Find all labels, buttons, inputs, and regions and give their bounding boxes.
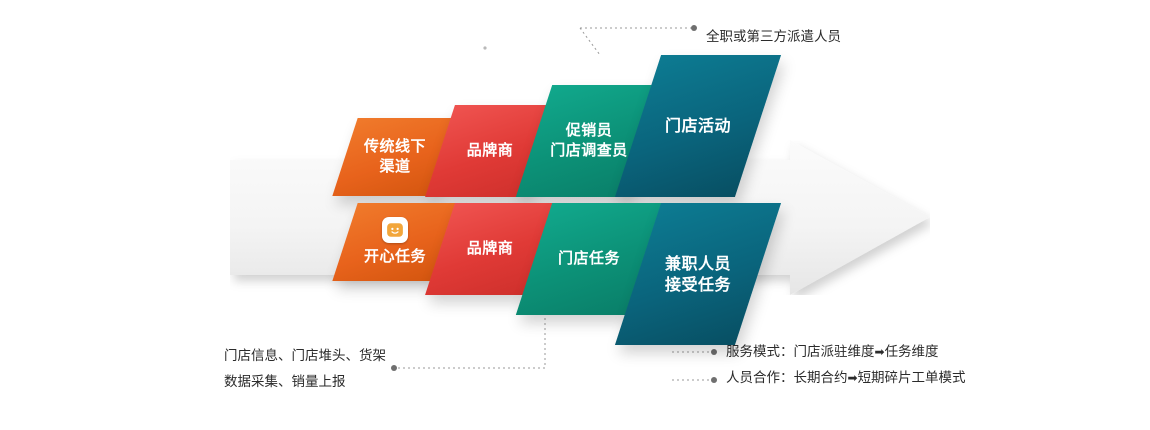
annotation-to: 任务维度 [885, 344, 939, 360]
annotation-from: 门店派驻维度 [794, 344, 875, 360]
block-label-line-2: 接受任务 [665, 274, 731, 295]
block-parttime-accept-task[interactable]: 兼职人员 接受任务 [615, 203, 781, 345]
block-label-line-1: 品牌商 [467, 239, 514, 259]
annotation-from: 长期合约 [794, 370, 848, 386]
annotation-label: 人员合作： [726, 370, 794, 386]
annotation-service-model: 服务模式：门店派驻维度➡任务维度 人员合作：长期合约➡短期碎片工单模式 [726, 340, 966, 391]
block-label-line-1: 兼职人员 [665, 253, 731, 274]
block-label-line-2: 门店调查员 [550, 141, 628, 161]
annotation-data-collection: 门店信息、门店堆头、货架 数据采集、销量上报 [224, 344, 386, 395]
diagram-canvas: 传统线下 渠道 品牌商 促销员 门店调查员 门店活动 [0, 0, 1150, 430]
block-store-activity[interactable]: 门店活动 [615, 55, 781, 197]
block-label-line-1: 门店任务 [558, 249, 620, 269]
annotation-label: 服务模式： [726, 344, 794, 360]
annotation-to: 短期碎片工单模式 [858, 370, 966, 386]
annotation-line: 全职或第三方派遣人员 [706, 25, 841, 51]
annotation-fulltime-staff: 全职或第三方派遣人员 [706, 25, 841, 51]
block-label-line-1: 开心任务 [364, 247, 426, 267]
block-label-line-1: 传统线下 [364, 137, 426, 157]
smile-app-icon [382, 217, 408, 243]
annotation-service-mode-row: 服务模式：门店派驻维度➡任务维度 [726, 340, 966, 366]
right-arrow-icon: ➡ [848, 371, 858, 385]
right-arrow-icon: ➡ [875, 345, 885, 359]
annotation-line-2: 数据采集、销量上报 [224, 370, 386, 396]
block-label-line-1: 门店活动 [665, 115, 731, 136]
block-label-line-2: 渠道 [379, 157, 410, 177]
annotation-line-1: 门店信息、门店堆头、货架 [224, 344, 386, 370]
block-label-line-1: 品牌商 [467, 141, 514, 161]
block-label-line-1: 促销员 [566, 121, 613, 141]
annotation-cooperation-row: 人员合作：长期合约➡短期碎片工单模式 [726, 366, 966, 392]
